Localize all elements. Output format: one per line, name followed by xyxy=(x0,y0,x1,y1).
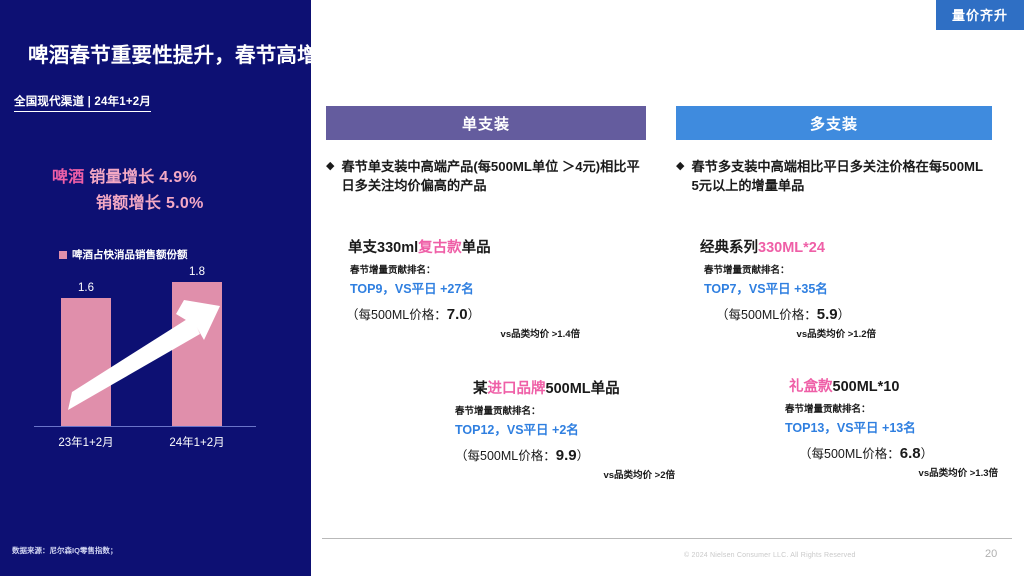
slide-root: 全国现代渠道 | 24年1+2月 啤酒 销量增长 4.9% 销额增长 5.0% … xyxy=(0,0,1024,576)
product-name-part: 单支330ml xyxy=(348,240,418,256)
stat-volume-text: 销量增长 4.9% xyxy=(89,169,197,186)
product-name-part: 复古款 xyxy=(418,240,462,256)
product-price-prefix: （每500ML价格： xyxy=(346,308,447,322)
product-price: （每500ML价格：9.9） xyxy=(455,445,685,464)
card-multi-pack-bullet: ◆ 春节多支装中高端相比平日多关注价格在每500ML 5元以上的增量单品 xyxy=(676,158,992,195)
product-price-prefix: （每500ML价格： xyxy=(455,449,556,463)
product-block-gift-500ml-10: 礼盒款500ML*10 春节增量贡献排名： TOP13，VS平日 +13名 （每… xyxy=(785,379,1000,479)
product-name-part: 单品 xyxy=(462,240,491,256)
product-price-value: 6.8 xyxy=(900,445,921,462)
product-vs-average: vs品类均价 >2倍 xyxy=(455,467,685,481)
card-single-pack-bullet-text: 春节单支装中高端产品(每500ML单位 ＞4元)相比平日多关注均价偏高的产品 xyxy=(341,158,646,195)
product-name: 经典系列330ML*24 xyxy=(700,240,1000,257)
page-title: 啤酒春节重要性提升，春节高增量产品相比平日覆盖更贵价格带 xyxy=(28,38,608,68)
bar-2023 xyxy=(61,298,111,427)
scope-kicker: 全国现代渠道 | 24年1+2月 xyxy=(14,93,151,112)
product-rank-value: TOP9，VS平日 +27名 xyxy=(350,278,648,297)
x-tick-2023: 23年1+2月 xyxy=(38,434,134,450)
product-name: 礼盒款500ML*10 xyxy=(789,379,1000,396)
card-single-pack: 单支装 ◆ 春节单支装中高端产品(每500ML单位 ＞4元)相比平日多关注均价偏… xyxy=(326,106,646,195)
x-tick-2024: 24年1+2月 xyxy=(149,434,245,450)
copyright-text: © 2024 Nielsen Consumer LLC. All Rights … xyxy=(684,552,856,559)
footer-divider xyxy=(322,538,1012,539)
product-price-suffix: ） xyxy=(577,449,590,463)
chart-legend: 啤酒占快消品销售额份额 xyxy=(59,247,188,262)
product-name-part: 500ML单品 xyxy=(546,381,620,397)
bar-value-2023: 1.6 xyxy=(61,282,111,294)
topic-badge: 量价齐升 xyxy=(936,0,1024,30)
product-vs-average: vs品类均价 >1.2倍 xyxy=(700,326,1000,340)
product-price-suffix: ） xyxy=(921,447,934,461)
page-number: 20 xyxy=(985,548,997,560)
legend-swatch-icon xyxy=(59,251,67,259)
card-single-pack-header: 单支装 xyxy=(326,106,646,140)
product-price-suffix: ） xyxy=(468,308,481,322)
product-price: （每500ML价格：6.8） xyxy=(799,443,1000,462)
product-rank-caption: 春节增量贡献排名： xyxy=(704,262,1000,276)
product-rank-value: TOP7，VS平日 +35名 xyxy=(704,278,1000,297)
chart-plot-area: 1.6 1.8 xyxy=(24,262,284,427)
product-name-part: 经典系列 xyxy=(700,240,758,256)
product-price-prefix: （每500ML价格： xyxy=(799,447,900,461)
product-price-value: 9.9 xyxy=(556,447,577,464)
data-source-footnote: 数据来源：尼尔森IQ零售指数； xyxy=(12,545,117,556)
product-vs-average: vs品类均价 >1.4倍 xyxy=(348,326,648,340)
product-rank-caption: 春节增量贡献排名： xyxy=(350,262,648,276)
product-price-prefix: （每500ML价格： xyxy=(716,308,817,322)
product-name-part: 某 xyxy=(473,381,488,397)
product-name-part: 礼盒款 xyxy=(789,379,833,395)
bar-value-2024: 1.8 xyxy=(172,266,222,278)
card-multi-pack: 多支装 ◆ 春节多支装中高端相比平日多关注价格在每500ML 5元以上的增量单品 xyxy=(676,106,992,195)
product-vs-average: vs品类均价 >1.3倍 xyxy=(785,465,1000,479)
product-rank-value: TOP13，VS平日 +13名 xyxy=(785,417,1000,436)
product-rank-caption: 春节增量贡献排名： xyxy=(455,403,685,417)
stat-category-label: 啤酒 xyxy=(52,169,85,186)
card-multi-pack-bullet-text: 春节多支装中高端相比平日多关注价格在每500ML 5元以上的增量单品 xyxy=(691,158,992,195)
share-bar-chart: 1.6 1.8 23年1+2月 24年1+2月 xyxy=(24,262,284,462)
product-name: 某进口品牌500ML单品 xyxy=(473,381,685,398)
product-price-value: 5.9 xyxy=(817,306,838,323)
product-name: 单支330ml复古款单品 xyxy=(348,240,648,257)
stat-volume-growth: 啤酒 销量增长 4.9% xyxy=(52,163,197,187)
stat-value-text: 销额增长 5.0% xyxy=(96,195,204,212)
product-block-classic-330ml-24: 经典系列330ML*24 春节增量贡献排名： TOP7，VS平日 +35名 （每… xyxy=(700,240,1000,340)
diamond-bullet-icon: ◆ xyxy=(326,158,334,195)
product-price-suffix: ） xyxy=(838,308,851,322)
bar-2024 xyxy=(172,282,222,427)
product-price: （每500ML价格：7.0） xyxy=(346,304,648,323)
product-name-part: 500ML*10 xyxy=(833,379,900,395)
product-rank-caption: 春节增量贡献排名： xyxy=(785,401,1000,415)
product-name-part: 进口品牌 xyxy=(488,381,546,397)
card-single-pack-bullet: ◆ 春节单支装中高端产品(每500ML单位 ＞4元)相比平日多关注均价偏高的产品 xyxy=(326,158,646,195)
product-block-import-500ml: 某进口品牌500ML单品 春节增量贡献排名： TOP12，VS平日 +2名 （每… xyxy=(455,381,685,481)
product-rank-value: TOP12，VS平日 +2名 xyxy=(455,419,685,438)
page-title-text: 啤酒春节重要性提升，春节高增量产品相比平日覆盖更贵价格带 xyxy=(28,44,608,67)
product-name-part: 330ML*24 xyxy=(758,240,825,256)
product-price: （每500ML价格：5.9） xyxy=(716,304,1000,323)
card-multi-pack-header: 多支装 xyxy=(676,106,992,140)
legend-label: 啤酒占快消品销售额份额 xyxy=(72,247,188,262)
product-block-retro-330ml: 单支330ml复古款单品 春节增量贡献排名： TOP9，VS平日 +27名 （每… xyxy=(348,240,648,340)
diamond-bullet-icon: ◆ xyxy=(676,158,684,195)
product-price-value: 7.0 xyxy=(447,306,468,323)
stat-value-growth: 销额增长 5.0% xyxy=(96,189,204,213)
chart-baseline-axis xyxy=(34,426,256,427)
